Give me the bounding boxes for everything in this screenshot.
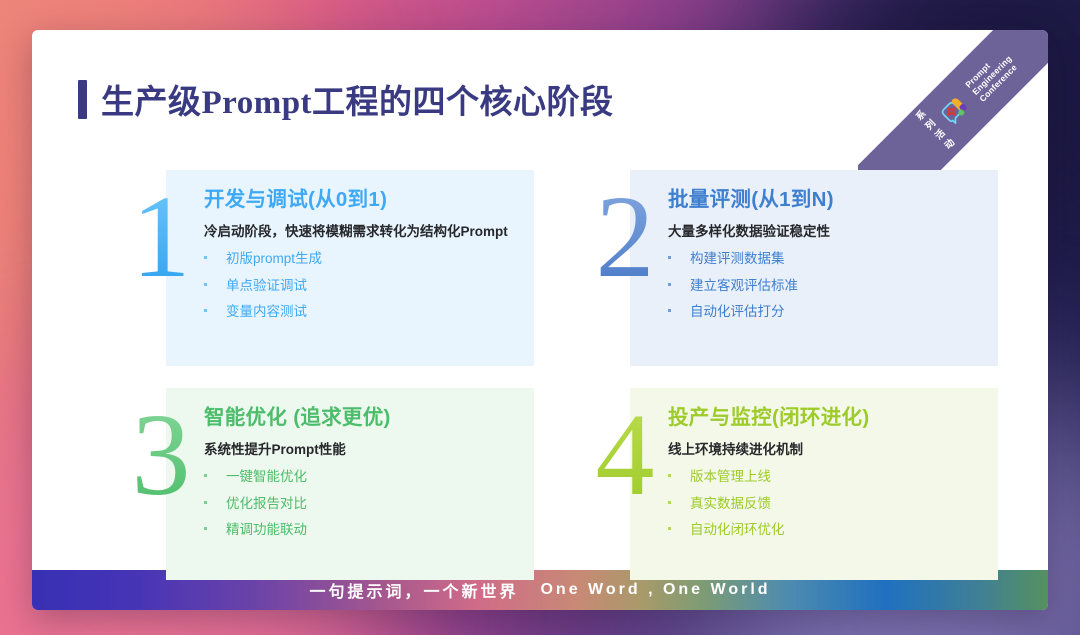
list-item: 自动化闭环优化 xyxy=(668,517,980,544)
bullet-dot-icon xyxy=(204,474,207,477)
stage-card-4-title: 投产与监控(闭环进化) xyxy=(668,406,980,431)
stage-card-1-desc: 冷启动阶段，快速将模糊需求转化为结构化Prompt xyxy=(204,220,516,244)
bullet-label: 自动化闭环优化 xyxy=(690,517,785,544)
slide-canvas: 系列活动 Prompt Engineering Conference xyxy=(32,30,1048,610)
stage-card-2-body: 批量评测(从1到N) 大量多样化数据验证稳定性 构建评测数据集 建立客观评估标准… xyxy=(630,170,998,366)
stage-card-4-body: 投产与监控(闭环进化) 线上环境持续进化机制 版本管理上线 真实数据反馈 自动化… xyxy=(630,388,998,580)
title-accent-bar xyxy=(78,80,87,119)
stage-card-1[interactable]: 1 开发与调试(从0到1) 冷启动阶段，快速将模糊需求转化为结构化Prompt … xyxy=(118,170,534,366)
stage-card-1-title: 开发与调试(从0到1) xyxy=(204,188,516,213)
bullet-label: 构建评测数据集 xyxy=(690,246,785,273)
footer-slogan-en: One Word , One World xyxy=(540,581,770,599)
ribbon-english-label: Prompt Engineering Conference xyxy=(963,46,1021,104)
stage-card-3-body: 智能优化 (追求更优) 系统性提升Prompt性能 一键智能优化 优化报告对比 … xyxy=(166,388,534,580)
list-item: 变量内容测试 xyxy=(204,299,516,326)
stage-card-3[interactable]: 3 智能优化 (追求更优) 系统性提升Prompt性能 一键智能优化 优化报告对… xyxy=(118,388,534,580)
stage-card-3-desc: 系统性提升Prompt性能 xyxy=(204,438,516,462)
footer-slogan-cn: 一句提示词，一个新世界 xyxy=(309,578,518,602)
stage-card-3-bullets: 一键智能优化 优化报告对比 精调功能联动 xyxy=(204,464,516,544)
list-item: 优化报告对比 xyxy=(204,491,516,518)
page-title: 生产级Prompt工程的四个核心阶段 xyxy=(78,75,614,123)
list-item: 初版prompt生成 xyxy=(204,246,516,273)
stage-card-2-bullets: 构建评测数据集 建立客观评估标准 自动化评估打分 xyxy=(668,246,980,326)
stage-number-4: 4 xyxy=(582,396,668,514)
bullet-dot-icon xyxy=(668,527,671,530)
bullet-label: 精调功能联动 xyxy=(226,517,307,544)
bullet-label: 建立客观评估标准 xyxy=(690,273,798,300)
bullet-dot-icon xyxy=(204,283,207,286)
stage-card-1-bullets: 初版prompt生成 单点验证调试 变量内容测试 xyxy=(204,246,516,326)
bullet-dot-icon xyxy=(668,309,671,312)
list-item: 版本管理上线 xyxy=(668,464,980,491)
list-item: 自动化评估打分 xyxy=(668,299,980,326)
bullet-label: 单点验证调试 xyxy=(226,273,307,300)
stage-card-grid: 1 开发与调试(从0到1) 冷启动阶段，快速将模糊需求转化为结构化Prompt … xyxy=(118,170,998,580)
bullet-label: 初版prompt生成 xyxy=(226,246,322,273)
bullet-label: 一键智能优化 xyxy=(226,464,307,491)
prompt-conference-logo-icon xyxy=(937,90,977,130)
list-item: 单点验证调试 xyxy=(204,273,516,300)
bullet-label: 优化报告对比 xyxy=(226,491,307,518)
stage-card-2-desc: 大量多样化数据验证稳定性 xyxy=(668,220,980,244)
bullet-dot-icon xyxy=(668,283,671,286)
bullet-label: 自动化评估打分 xyxy=(690,299,785,326)
bullet-label: 变量内容测试 xyxy=(226,299,307,326)
list-item: 精调功能联动 xyxy=(204,517,516,544)
list-item: 一键智能优化 xyxy=(204,464,516,491)
title-text: 生产级Prompt工程的四个核心阶段 xyxy=(101,75,614,123)
list-item: 真实数据反馈 xyxy=(668,491,980,518)
stage-card-4[interactable]: 4 投产与监控(闭环进化) 线上环境持续进化机制 版本管理上线 真实数据反馈 自… xyxy=(582,388,998,580)
bullet-dot-icon xyxy=(204,309,207,312)
stage-card-2-title: 批量评测(从1到N) xyxy=(668,188,980,213)
bullet-dot-icon xyxy=(668,501,671,504)
stage-number-2: 2 xyxy=(582,178,668,296)
bullet-label: 真实数据反馈 xyxy=(690,491,771,518)
bullet-dot-icon xyxy=(204,256,207,259)
stage-card-2[interactable]: 2 批量评测(从1到N) 大量多样化数据验证稳定性 构建评测数据集 建立客观评估… xyxy=(582,170,998,366)
bullet-dot-icon xyxy=(204,527,207,530)
stage-card-4-bullets: 版本管理上线 真实数据反馈 自动化闭环优化 xyxy=(668,464,980,544)
stage-card-4-desc: 线上环境持续进化机制 xyxy=(668,438,980,462)
stage-card-1-body: 开发与调试(从0到1) 冷启动阶段，快速将模糊需求转化为结构化Prompt 初版… xyxy=(166,170,534,366)
bullet-dot-icon xyxy=(668,474,671,477)
bullet-dot-icon xyxy=(204,501,207,504)
stage-number-1: 1 xyxy=(118,178,204,296)
list-item: 构建评测数据集 xyxy=(668,246,980,273)
list-item: 建立客观评估标准 xyxy=(668,273,980,300)
bullet-label: 版本管理上线 xyxy=(690,464,771,491)
bullet-dot-icon xyxy=(668,256,671,259)
stage-card-3-title: 智能优化 (追求更优) xyxy=(204,406,516,431)
stage-number-3: 3 xyxy=(118,396,204,514)
